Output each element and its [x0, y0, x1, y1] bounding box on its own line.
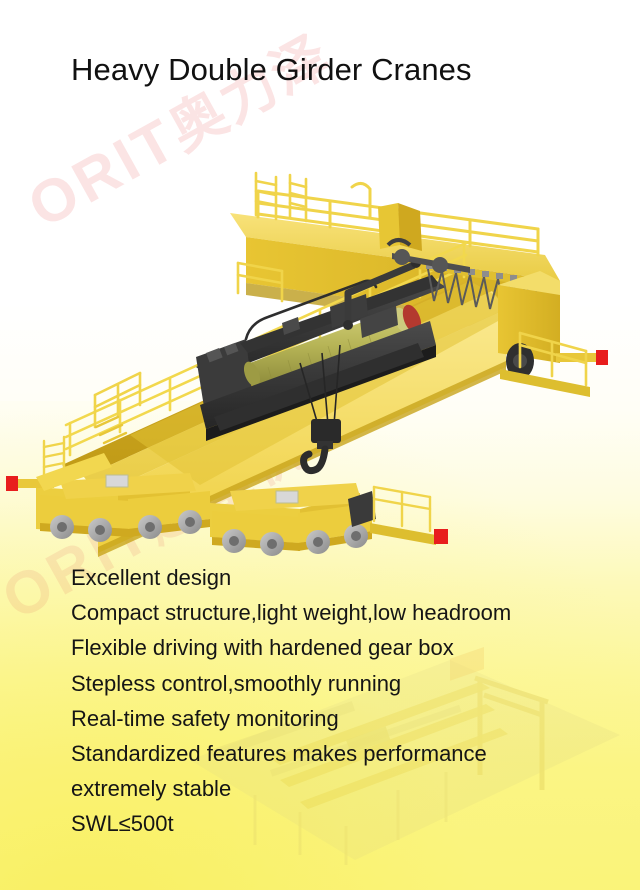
feature-line: Stepless control,smoothly running: [71, 666, 611, 701]
feature-line: SWL≤500t: [71, 806, 611, 841]
buffer-stop-left: [6, 476, 18, 491]
buffer-stop-rear: [434, 529, 448, 544]
buffer-stop-right: [596, 350, 608, 365]
end-carriage-right: [498, 271, 608, 397]
bogie-wheel-assembly: [40, 495, 142, 542]
girder-connector-left: [378, 203, 422, 251]
bogie-wheel-assembly: [212, 511, 312, 556]
end-carriage-left-rear: [210, 483, 448, 556]
feature-line: Compact structure,light weight,low headr…: [71, 595, 611, 630]
bogie-wheel-assembly: [128, 491, 210, 539]
double-girder-crane-illustration: [0, 95, 640, 565]
page-title: Heavy Double Girder Cranes: [71, 51, 472, 89]
feature-line: Real-time safety monitoring: [71, 701, 611, 736]
feature-list: Excellent design Compact structure,light…: [71, 560, 611, 842]
feature-line: Excellent design: [71, 560, 611, 595]
feature-line: Standardized features makes performance: [71, 736, 611, 771]
feature-line: Flexible driving with hardened gear box: [71, 630, 611, 665]
feature-line: extremely stable: [71, 771, 611, 806]
poster-page: ORIT奥力泽 ORIT起重机: [0, 0, 640, 890]
